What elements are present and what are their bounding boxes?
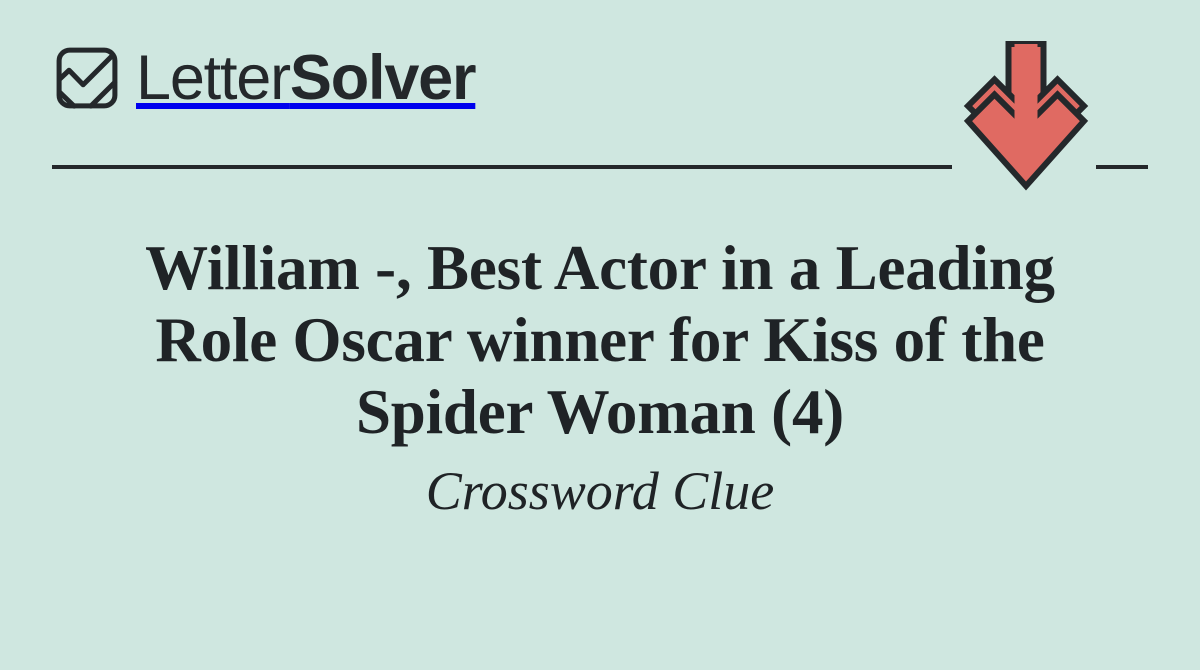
clue-block: William -, Best Actor in a Leading Role … <box>0 232 1200 522</box>
checkbox-check-logo-icon <box>56 47 118 109</box>
brand-icon-wrap <box>56 47 118 109</box>
header-divider-right <box>1096 165 1148 169</box>
brand-wordmark: LetterSolver <box>136 47 475 109</box>
down-arrow-icon <box>958 38 1094 196</box>
page-subtitle: Crossword Clue <box>0 448 1200 522</box>
brand-word-letter: Letter <box>136 43 290 113</box>
brand-word-solver: Solver <box>290 43 475 113</box>
page-root: LetterSolver William -, Best Actor in a … <box>0 0 1200 670</box>
header-divider-left <box>52 165 952 169</box>
brand-logo-link[interactable]: LetterSolver <box>56 40 475 116</box>
page-title: William -, Best Actor in a Leading Role … <box>0 232 1200 448</box>
site-header: LetterSolver <box>0 0 1200 200</box>
